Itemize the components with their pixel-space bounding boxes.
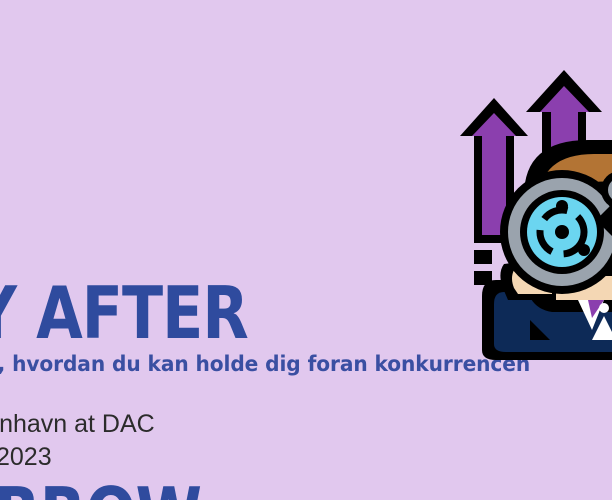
event-date: 2023 [0, 441, 155, 474]
hero-illustration [452, 68, 612, 360]
event-location: øbenhavn at DAC [0, 408, 155, 441]
headline-line-1: DAY AFTER [0, 280, 406, 347]
banner-subtitle: r i, hvordan du kan holde dig foran konk… [0, 352, 530, 376]
event-banner: DAY AFTER MORROW r i, hvordan du kan hol… [0, 0, 612, 500]
banner-meta: øbenhavn at DAC 2023 [0, 408, 155, 475]
headline-line-2: MORROW [0, 481, 406, 500]
